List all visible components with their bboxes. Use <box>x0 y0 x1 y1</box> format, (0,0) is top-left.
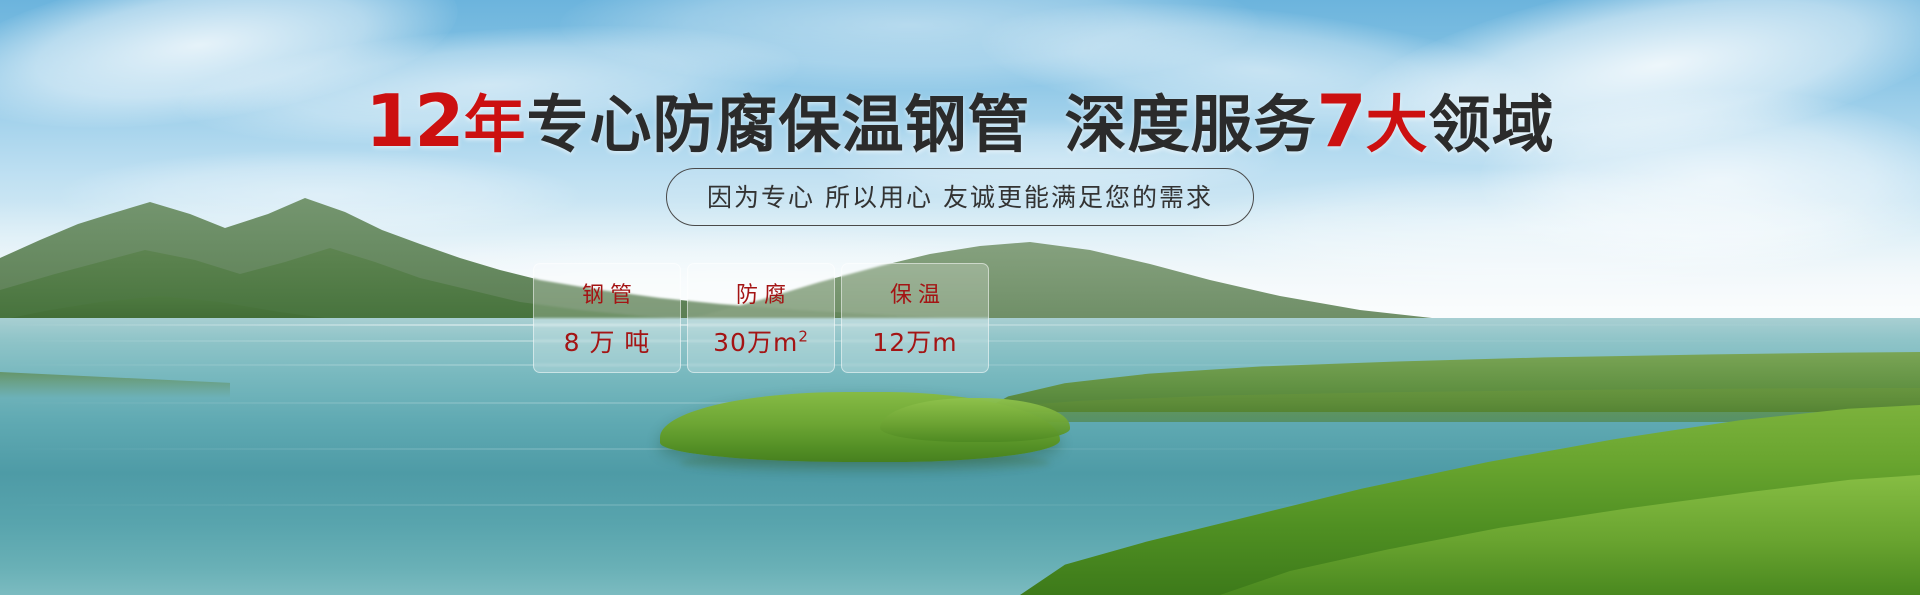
headline-secondary-text: 深度服务 <box>1065 88 1317 161</box>
stat-card: 保温 12万m <box>841 263 989 373</box>
stat-card-value: 8 万 吨 <box>564 323 651 359</box>
stat-card-value: 12万m <box>872 323 957 359</box>
banner-content: 12年专心防腐保温钢管深度服务7大领域 因为专心 所以用心 友诚更能满足您的需求… <box>0 0 1920 595</box>
headline-years-unit: 年 <box>464 88 527 161</box>
stat-card: 防腐 30万m2 <box>687 263 835 373</box>
headline-main-text: 专心防腐保温钢管 <box>527 88 1031 161</box>
stat-card-value-superscript: 2 <box>798 328 809 346</box>
stat-card-label: 防腐 <box>730 277 792 309</box>
headline-years-number: 12 <box>365 79 463 163</box>
headline-fields-tail: 领域 <box>1429 88 1555 161</box>
stat-card-label: 钢管 <box>576 277 638 309</box>
stat-card-label: 保温 <box>884 277 946 309</box>
stat-card: 钢管 8 万 吨 <box>533 263 681 373</box>
headline-fields-suffix: 大 <box>1366 88 1429 161</box>
stat-card-list: 钢管 8 万 吨 防腐 30万m2 保温 12万m <box>533 263 989 373</box>
stat-card-value: 30万m2 <box>713 323 809 359</box>
hero-banner: 12年专心防腐保温钢管深度服务7大领域 因为专心 所以用心 友诚更能满足您的需求… <box>0 0 1920 595</box>
subtitle-container: 因为专心 所以用心 友诚更能满足您的需求 <box>0 168 1920 226</box>
page-title: 12年专心防腐保温钢管深度服务7大领域 <box>0 85 1920 157</box>
headline-fields-number: 7 <box>1317 79 1366 163</box>
stat-card-value-text: 12万m <box>872 328 957 357</box>
stat-card-value-text: 30万m <box>713 328 798 357</box>
subtitle-pill: 因为专心 所以用心 友诚更能满足您的需求 <box>666 168 1254 226</box>
